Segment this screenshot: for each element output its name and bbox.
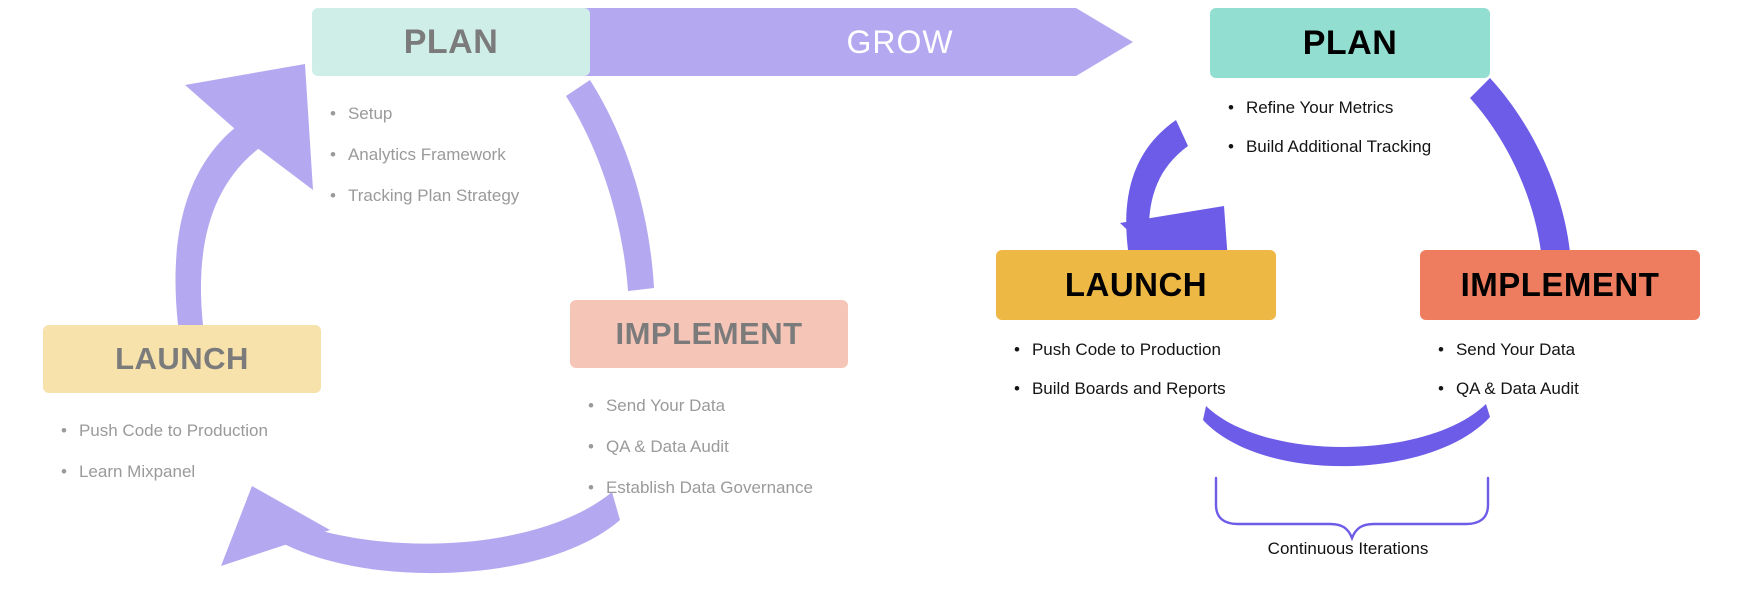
list-item-label: Learn Mixpanel: [79, 462, 195, 482]
grow-banner-arrow: [528, 8, 1133, 76]
bullet-icon: •: [588, 397, 594, 414]
list-item: •Push Code to Production: [1014, 340, 1276, 360]
diagram-canvas: GROW PLAN •Setup •Analytics Framework •T…: [0, 0, 1740, 589]
list-item-label: QA & Data Audit: [606, 437, 729, 457]
node-implement-initial[interactable]: IMPLEMENT •Send Your Data •QA & Data Aud…: [570, 300, 848, 519]
list-item-label: Refine Your Metrics: [1246, 98, 1393, 118]
node-implement-continuous[interactable]: IMPLEMENT •Send Your Data •QA & Data Aud…: [1420, 250, 1700, 418]
arrow-launch-to-plan-left: [175, 64, 313, 325]
node-launch-initial[interactable]: LAUNCH •Push Code to Production •Learn M…: [43, 325, 321, 503]
node-launch-initial-bullets: •Push Code to Production •Learn Mixpanel: [43, 421, 321, 482]
list-item: •Setup: [330, 104, 590, 124]
list-item-label: Establish Data Governance: [606, 478, 813, 498]
bullet-icon: •: [588, 438, 594, 455]
bullet-icon: •: [1228, 99, 1234, 116]
list-item: •QA & Data Audit: [1438, 379, 1700, 399]
bullet-icon: •: [61, 463, 67, 480]
list-item: •Build Additional Tracking: [1228, 137, 1490, 157]
grow-banner-label: GROW: [760, 18, 1040, 66]
bullet-icon: •: [1014, 380, 1020, 397]
node-plan-initial-bullets: •Setup •Analytics Framework •Tracking Pl…: [312, 104, 590, 206]
list-item: •Learn Mixpanel: [61, 462, 321, 482]
node-plan-continuous-bullets: •Refine Your Metrics •Build Additional T…: [1210, 98, 1490, 157]
list-item-label: Send Your Data: [1456, 340, 1575, 360]
list-item-label: Tracking Plan Strategy: [348, 186, 519, 206]
list-item: •Build Boards and Reports: [1014, 379, 1276, 399]
list-item-label: Setup: [348, 104, 392, 124]
list-item-label: Build Additional Tracking: [1246, 137, 1431, 157]
node-implement-continuous-title: IMPLEMENT: [1420, 250, 1700, 320]
list-item-label: Push Code to Production: [1032, 340, 1221, 360]
node-implement-initial-title: IMPLEMENT: [570, 300, 848, 368]
node-launch-continuous-bullets: •Push Code to Production •Build Boards a…: [996, 340, 1276, 399]
bullet-icon: •: [330, 146, 336, 163]
continuous-iterations-brace: [1216, 478, 1488, 538]
bullet-icon: •: [1438, 341, 1444, 358]
list-item: •Push Code to Production: [61, 421, 321, 441]
bullet-icon: •: [330, 187, 336, 204]
node-plan-initial[interactable]: PLAN •Setup •Analytics Framework •Tracki…: [312, 8, 590, 227]
list-item-label: Send Your Data: [606, 396, 725, 416]
node-launch-continuous[interactable]: LAUNCH •Push Code to Production •Build B…: [996, 250, 1276, 418]
list-item: •Tracking Plan Strategy: [330, 186, 590, 206]
list-item-label: Analytics Framework: [348, 145, 506, 165]
list-item: •Establish Data Governance: [588, 478, 848, 498]
bullet-icon: •: [588, 479, 594, 496]
node-plan-initial-title: PLAN: [312, 8, 590, 76]
list-item-label: Build Boards and Reports: [1032, 379, 1226, 399]
node-launch-initial-title: LAUNCH: [43, 325, 321, 393]
node-plan-continuous-title: PLAN: [1210, 8, 1490, 78]
list-item: •QA & Data Audit: [588, 437, 848, 457]
node-launch-continuous-title: LAUNCH: [996, 250, 1276, 320]
bullet-icon: •: [1228, 138, 1234, 155]
bullet-icon: •: [1438, 380, 1444, 397]
node-implement-continuous-bullets: •Send Your Data •QA & Data Audit: [1420, 340, 1700, 399]
bullet-icon: •: [61, 422, 67, 439]
node-implement-initial-bullets: •Send Your Data •QA & Data Audit •Establ…: [570, 396, 848, 498]
list-item-label: QA & Data Audit: [1456, 379, 1579, 399]
bullet-icon: •: [330, 105, 336, 122]
node-plan-continuous[interactable]: PLAN •Refine Your Metrics •Build Additio…: [1210, 8, 1490, 176]
list-item: •Refine Your Metrics: [1228, 98, 1490, 118]
list-item: •Analytics Framework: [330, 145, 590, 165]
list-item-label: Push Code to Production: [79, 421, 268, 441]
list-item: •Send Your Data: [588, 396, 848, 416]
continuous-iterations-label: Continuous Iterations: [1188, 539, 1508, 559]
list-item: •Send Your Data: [1438, 340, 1700, 360]
bullet-icon: •: [1014, 341, 1020, 358]
